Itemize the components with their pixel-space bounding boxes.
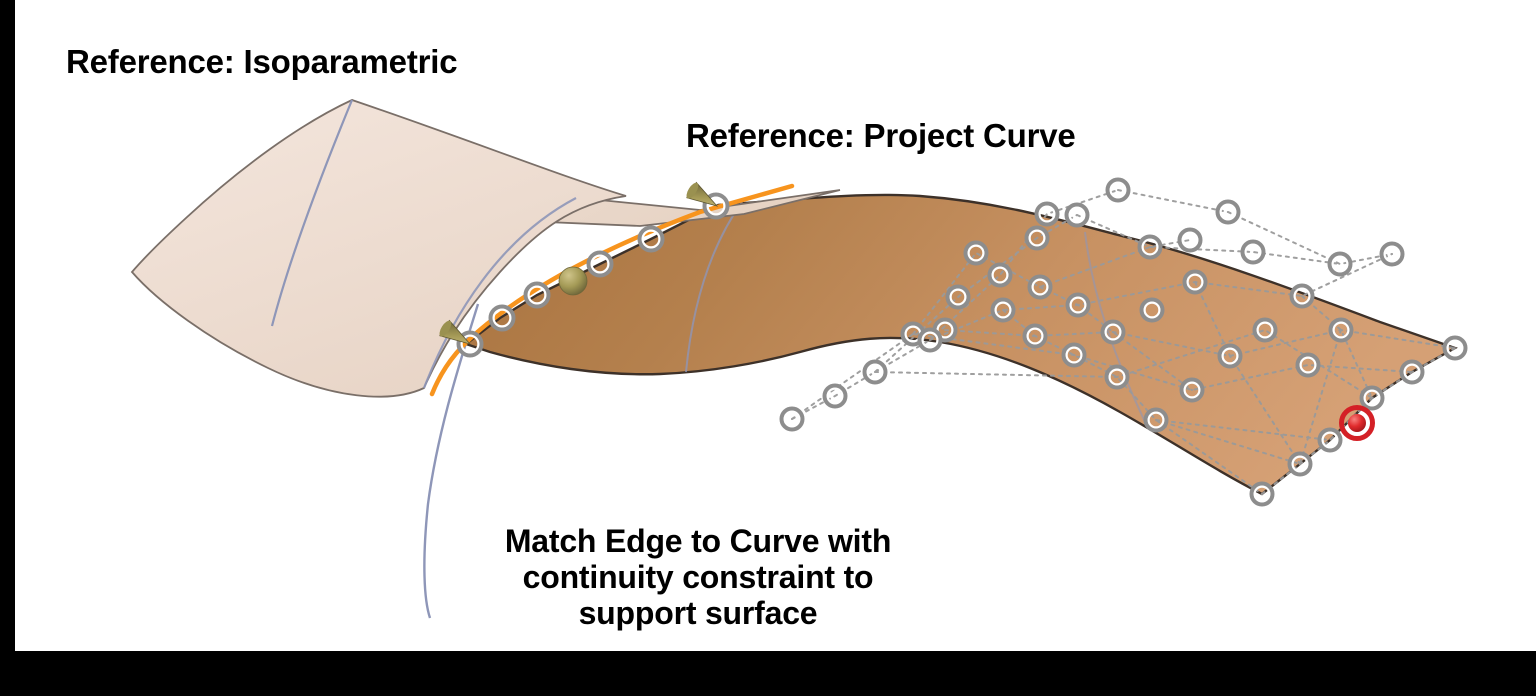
matched-edge-surface <box>466 195 1455 494</box>
letterbox-bar-bottom <box>0 651 1536 696</box>
sphere-handle-mid-icon[interactable] <box>559 267 587 295</box>
letterbox-bar-left <box>0 0 15 696</box>
selected-point-sphere-icon <box>1348 414 1366 432</box>
annotation-match-edge-to-curve: Match Edge to Curve with continuity cons… <box>468 524 928 631</box>
annotation-reference-project-curve: Reference: Project Curve <box>686 118 1076 155</box>
annotation-reference-isoparametric: Reference: Isoparametric <box>66 44 457 81</box>
matched-edge-surface-group <box>466 195 1455 494</box>
cad-viewport: Reference: Isoparametric Reference: Proj… <box>0 0 1536 696</box>
